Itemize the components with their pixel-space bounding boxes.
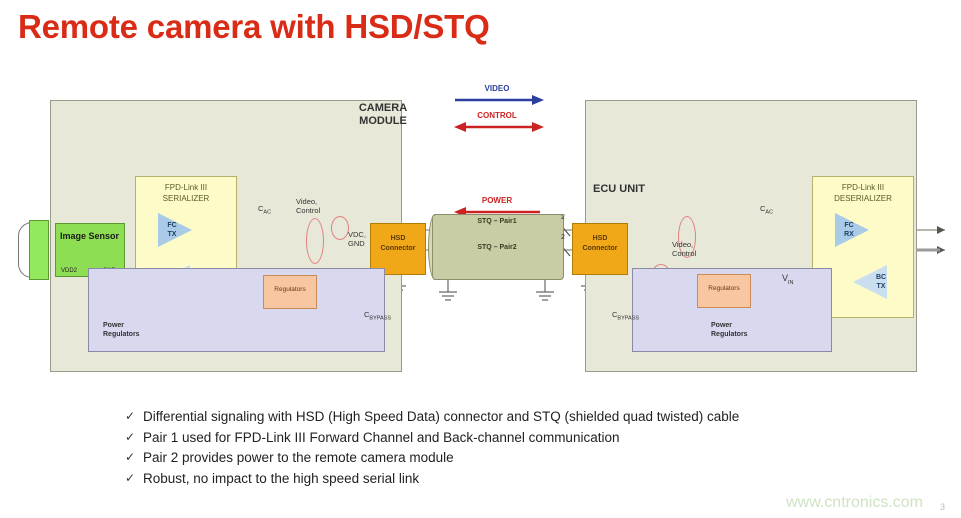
ecu-signal-l1: Video, bbox=[672, 240, 693, 249]
bc-tx-label: BC TX bbox=[869, 273, 893, 291]
fc-tx-label: FC TX bbox=[160, 221, 184, 239]
serializer-line2: SERIALIZER bbox=[163, 194, 210, 203]
pwr-cam-l1: Power bbox=[103, 322, 124, 329]
ecu-unit-title-text: ECU UNIT bbox=[593, 183, 645, 195]
ecu-unit-title: ECU UNIT bbox=[593, 183, 673, 196]
stq-pair2-label: STQ – Pair2 bbox=[432, 244, 562, 251]
page-title: Remote camera with HSD/STQ bbox=[18, 8, 490, 46]
control-flow-label: CONTROL bbox=[452, 111, 542, 120]
video-flow-arrow bbox=[455, 95, 544, 105]
power-regulators-block-camera: Power Regulators bbox=[88, 268, 385, 352]
regulators-ecu-label: Regulators bbox=[698, 285, 750, 292]
pair-count-bottom: 2 bbox=[561, 233, 565, 242]
cac-top-camera-label: CAC bbox=[258, 204, 271, 218]
pwr-cam-l2: Regulators bbox=[103, 331, 140, 338]
control-flow-arrow bbox=[454, 122, 544, 132]
bullet-list: ✓ Differential signaling with HSD (High … bbox=[125, 408, 925, 490]
cbypass-camera-sub: BYPASS bbox=[369, 316, 391, 322]
pair-count-top: 2 bbox=[561, 213, 565, 222]
check-icon: ✓ bbox=[125, 449, 143, 466]
hsd-connector-ecu: HSD Connector bbox=[572, 223, 628, 275]
camera-module-title-text: CAMERA MODULE bbox=[359, 102, 407, 127]
fc-tx-l1: FC bbox=[167, 222, 176, 229]
ecu-signal-l2: Control bbox=[672, 249, 696, 258]
deserializer-label: FPD-Link III DESERIALIZER bbox=[813, 182, 913, 204]
camera-power-l1: VDC, bbox=[348, 230, 366, 239]
regulators-box-ecu: Regulators bbox=[697, 274, 751, 308]
list-item: ✓ Differential signaling with HSD (High … bbox=[125, 408, 925, 425]
stq-pair1-label: STQ – Pair1 bbox=[432, 218, 562, 225]
power-highlight-ellipse-camera bbox=[331, 216, 349, 240]
power-flow-label: POWER bbox=[452, 196, 542, 205]
cac-top-camera-sub: AC bbox=[263, 210, 271, 216]
ecu-signal-annotation: Video, Control bbox=[672, 240, 716, 258]
fc-rx-label: FC RX bbox=[837, 221, 861, 239]
hsd-connector-ecu-label: HSD Connector bbox=[573, 234, 627, 254]
bullet-text: Pair 1 used for FPD-Link III Forward Cha… bbox=[143, 429, 619, 446]
cac-top-ecu-sub: AC bbox=[765, 210, 773, 216]
list-item: ✓ Pair 2 provides power to the remote ca… bbox=[125, 449, 925, 466]
pwr-ecu-l2: Regulators bbox=[711, 331, 748, 338]
regulators-box-camera: Regulators bbox=[263, 275, 317, 309]
bullet-text: Differential signaling with HSD (High Sp… bbox=[143, 408, 739, 425]
hsd-connector-camera-label: HSD Connector bbox=[371, 234, 425, 254]
serializer-label: FPD-Link III SERIALIZER bbox=[136, 182, 236, 204]
sensor-vdd2-label: VDD2 bbox=[61, 268, 77, 274]
bullet-text: Robust, no impact to the high speed seri… bbox=[143, 470, 419, 487]
power-regulators-camera-label: Power Regulators bbox=[103, 321, 140, 339]
bc-tx-l2: TX bbox=[877, 283, 886, 290]
fc-rx-l2: RX bbox=[844, 231, 854, 238]
deser-line1: FPD-Link III bbox=[842, 183, 884, 192]
site-watermark: www.cntronics.com bbox=[786, 494, 923, 512]
cbypass-ecu-sub: BYPASS bbox=[617, 316, 639, 322]
hsd-ecu-l2: Connector bbox=[583, 245, 618, 252]
architecture-diagram: CAMERA MODULE Image Sensor VDD2 GND FPD-… bbox=[0, 78, 961, 388]
hsd-ecu-l1: HSD bbox=[593, 235, 608, 242]
serializer-line1: FPD-Link III bbox=[165, 183, 207, 192]
fc-tx-l2: TX bbox=[168, 231, 177, 238]
list-item: ✓ Robust, no impact to the high speed se… bbox=[125, 470, 925, 487]
check-icon: ✓ bbox=[125, 470, 143, 487]
cbypass-ecu-label: CBYPASS bbox=[612, 310, 639, 324]
list-item: ✓ Pair 1 used for FPD-Link III Forward C… bbox=[125, 429, 925, 446]
camera-module-title: CAMERA MODULE bbox=[348, 102, 418, 128]
check-icon: ✓ bbox=[125, 408, 143, 425]
page-number: 3 bbox=[940, 502, 945, 512]
camera-signal-l2: Control bbox=[296, 206, 320, 215]
vin-sub: IN bbox=[788, 280, 794, 286]
camera-signal-annotation: Video, Control bbox=[296, 197, 340, 215]
image-sensor-label: Image Sensor bbox=[60, 230, 119, 242]
fc-rx-l1: FC bbox=[844, 222, 853, 229]
cbypass-camera-label: CBYPASS bbox=[364, 310, 391, 324]
camera-power-l2: GND bbox=[348, 239, 365, 248]
pwr-ecu-l1: Power bbox=[711, 322, 732, 329]
deser-line2: DESERIALIZER bbox=[834, 194, 892, 203]
camera-signal-l1: Video, bbox=[296, 197, 317, 206]
hsd-cam-l2: Connector bbox=[381, 245, 416, 252]
power-regulators-ecu-label: Power Regulators bbox=[711, 321, 748, 339]
bc-tx-l1: BC bbox=[876, 274, 886, 281]
video-flow-label: VIDEO bbox=[452, 84, 542, 93]
hsd-cam-l1: HSD bbox=[391, 235, 406, 242]
lens-block bbox=[29, 220, 49, 280]
regulators-camera-label: Regulators bbox=[264, 286, 316, 293]
check-icon: ✓ bbox=[125, 429, 143, 446]
cac-top-ecu-label: CAC bbox=[760, 204, 773, 218]
bullet-text: Pair 2 provides power to the remote came… bbox=[143, 449, 454, 466]
vin-label: VIN bbox=[782, 274, 794, 288]
signal-highlight-ellipse-camera bbox=[306, 218, 324, 264]
